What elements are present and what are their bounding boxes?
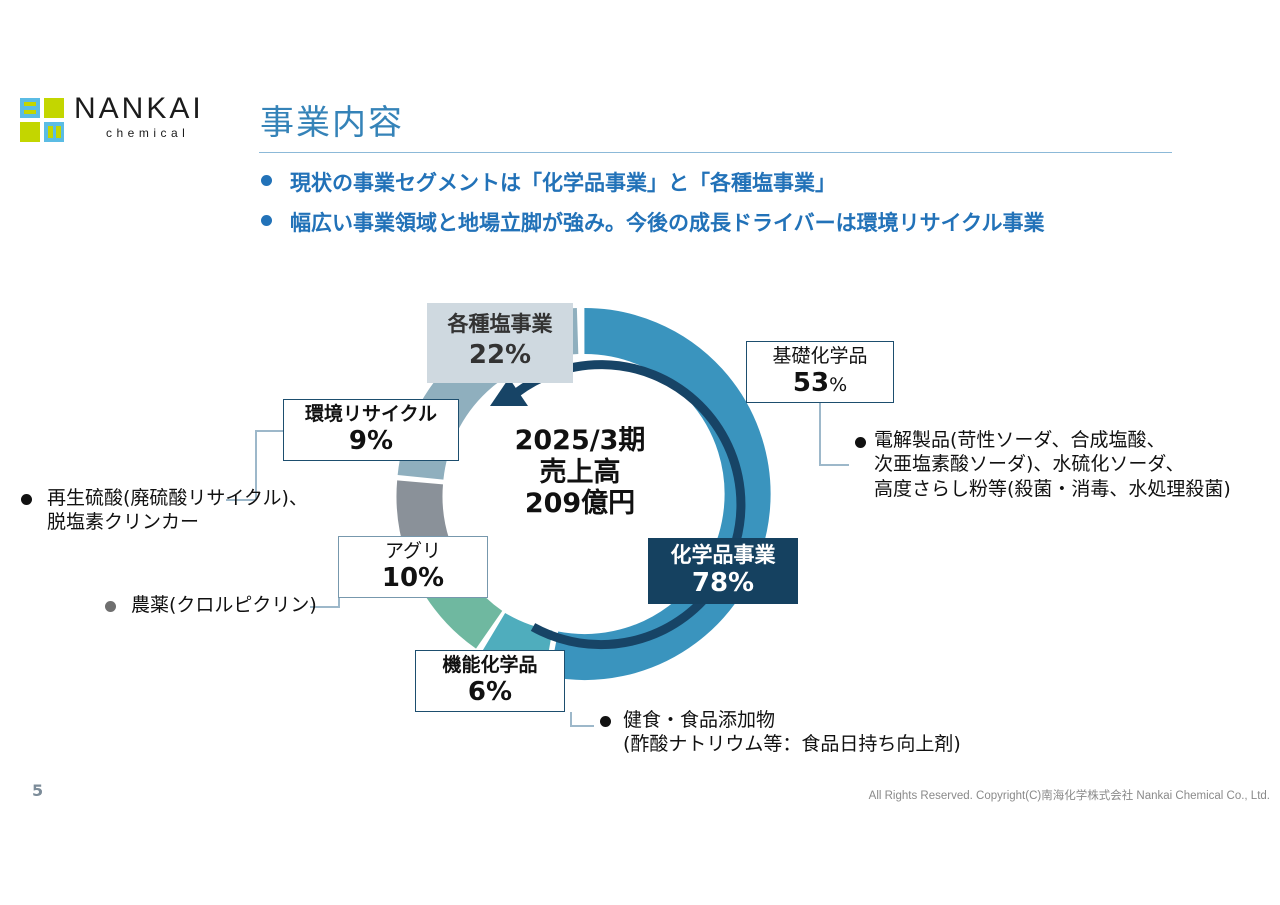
callout-functional-chemicals[interactable]: 機能化学品 6% [415,650,565,712]
highlight-bullet-1: 現状の事業セグメントは「化学品事業」と「各種塩事業」 [290,167,836,197]
leader-line-basic-horizontal [819,464,849,466]
note-agri: 農薬(クロルピクリン) [131,593,317,617]
callout-func-name: 機能化学品 [416,655,564,677]
page-title: 事業内容 [260,95,404,144]
bullet-dot-1 [261,175,272,186]
callout-agri-percent: 10% [339,564,487,594]
leader-line-func-vertical [570,712,572,726]
callout-chemical-business[interactable]: 化学品事業 78% [648,538,798,604]
note-basic-chemicals: 電解製品(苛性ソーダ、合成塩酸、 次亜塩素酸ソーダ)、水硫化ソーダ、 高度さらし… [874,428,1231,501]
callout-salt-business[interactable]: 各種塩事業 22% [427,303,573,383]
callout-basic-percent-sign: % [829,374,847,396]
note-dot-basic [855,437,866,448]
donut-center-label: 2025/3期 売上高 209億円 [455,425,705,520]
callout-recycle-name: 環境リサイクル [284,404,458,426]
center-line-1: 2025/3期 [455,425,705,457]
highlight-bullet-2: 幅広い事業領域と地場立脚が強み。今後の成長ドライバーは環境リサイクル事業 [290,207,1045,237]
callout-agri-name: アグリ [339,541,487,563]
callout-basic-name: 基礎化学品 [747,346,893,368]
callout-agri[interactable]: アグリ 10% [338,536,488,598]
slide-canvas: NANKAI chemical 事業内容 現状の事業セグメントは「化学品事業」と… [0,0,1280,905]
logo-subtitle: chemical [106,126,189,140]
copyright-notice: All Rights Reserved. Copyright(C)南海化学株式会… [869,787,1270,803]
callout-basic-percent-number: 53 [793,368,829,398]
note-environmental-recycling: 再生硫酸(廃硫酸リサイクル)、 脱塩素クリンカー [47,486,308,535]
center-line-2: 売上高 [455,457,705,489]
leader-line-basic-vertical [819,403,821,465]
callout-func-percent: 6% [416,678,564,708]
callout-recycle-percent: 9% [284,427,458,457]
note-dot-agri [105,601,116,612]
callout-basic-chemicals[interactable]: 基礎化学品 53% [746,341,894,403]
title-divider [259,152,1172,153]
page-number: 5 [32,781,43,800]
callout-environmental-recycling[interactable]: 環境リサイクル 9% [283,399,459,461]
bullet-dot-2 [261,215,272,226]
note-dot-recycle [21,494,32,505]
logo-mark-icon [20,98,64,142]
callout-salt-name: 各種塩事業 [427,312,573,336]
note-dot-func [600,716,611,727]
company-logo: NANKAI chemical [20,92,250,152]
center-line-3: 209億円 [455,488,705,520]
callout-basic-percent: 53% [747,369,893,399]
leader-line-recycle-horizontal [255,430,283,432]
leader-line-func-horizontal [570,725,594,727]
note-functional-chemicals: 健食・食品添加物 (酢酸ナトリウム等：食品日持ち向上剤) [623,708,961,757]
callout-chem-name: 化学品事業 [648,543,798,567]
callout-salt-percent: 22% [427,341,573,371]
callout-chem-percent: 78% [648,569,798,599]
logo-wordmark: NANKAI [74,92,204,126]
